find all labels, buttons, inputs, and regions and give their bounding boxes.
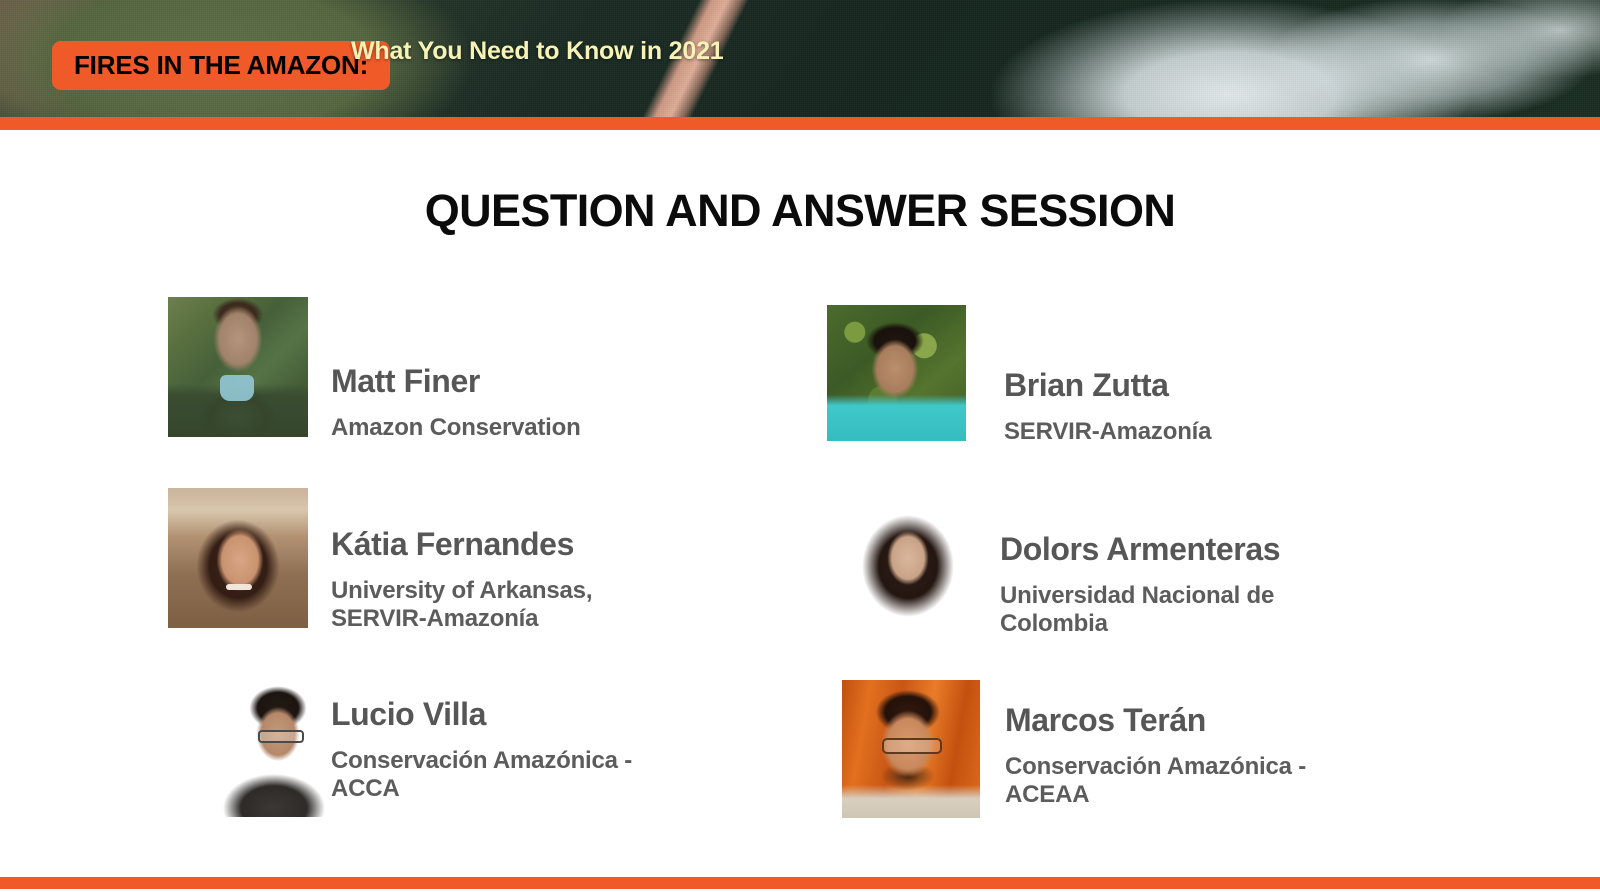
speaker-name: Matt Finer xyxy=(331,363,771,400)
speaker-affiliation: University of Arkansas, SERVIR-Amazonía xyxy=(331,577,661,633)
speaker-text: Marcos Terán Conservación Amazónica - AC… xyxy=(1005,702,1475,809)
speaker-affiliation: Conservación Amazónica - ACEAA xyxy=(1005,753,1380,809)
header-banner: FIRES IN THE AMAZON: What You Need to Kn… xyxy=(0,0,1600,117)
portrait-lucio-villa xyxy=(206,672,346,817)
speaker-text: Brian Zutta SERVIR-Amazonía xyxy=(1004,367,1464,446)
header-divider-rule xyxy=(0,117,1600,130)
series-badge: FIRES IN THE AMAZON: xyxy=(52,41,390,90)
portrait-katia-fernandes xyxy=(168,488,308,628)
portrait-brian-zutta xyxy=(827,305,966,441)
speaker-affiliation: Universidad Nacional de Colombia xyxy=(1000,582,1345,638)
speaker-text: Lucio Villa Conservación Amazónica - ACC… xyxy=(331,696,771,803)
portrait-marcos-teran xyxy=(842,680,980,818)
speaker-text: Kátia Fernandes University of Arkansas, … xyxy=(331,526,771,633)
speaker-text: Matt Finer Amazon Conservation xyxy=(331,363,771,442)
portrait-dolors-armenteras xyxy=(838,492,977,629)
speaker-affiliation: Amazon Conservation xyxy=(331,414,761,442)
portrait-image xyxy=(168,297,308,437)
portrait-image xyxy=(842,680,980,818)
speaker-name: Marcos Terán xyxy=(1005,702,1475,739)
speaker-name: Dolors Armenteras xyxy=(1000,531,1460,568)
speaker-name: Lucio Villa xyxy=(331,696,771,733)
speaker-affiliation: Conservación Amazónica - ACCA xyxy=(331,747,701,803)
speaker-text: Dolors Armenteras Universidad Nacional d… xyxy=(1000,531,1460,638)
speaker-affiliation: SERVIR-Amazonía xyxy=(1004,418,1434,446)
speaker-name: Brian Zutta xyxy=(1004,367,1464,404)
portrait-image xyxy=(168,488,308,628)
speaker-name: Kátia Fernandes xyxy=(331,526,771,563)
portrait-matt-finer xyxy=(168,297,308,437)
portrait-image xyxy=(206,672,346,817)
portrait-image xyxy=(838,492,977,629)
portrait-image xyxy=(827,305,966,441)
footer-divider-rule xyxy=(0,877,1600,889)
presentation-slide: FIRES IN THE AMAZON: What You Need to Kn… xyxy=(0,0,1600,892)
header-subtitle: What You Need to Know in 2021 xyxy=(351,38,723,66)
page-title: QUESTION AND ANSWER SESSION xyxy=(0,186,1600,236)
